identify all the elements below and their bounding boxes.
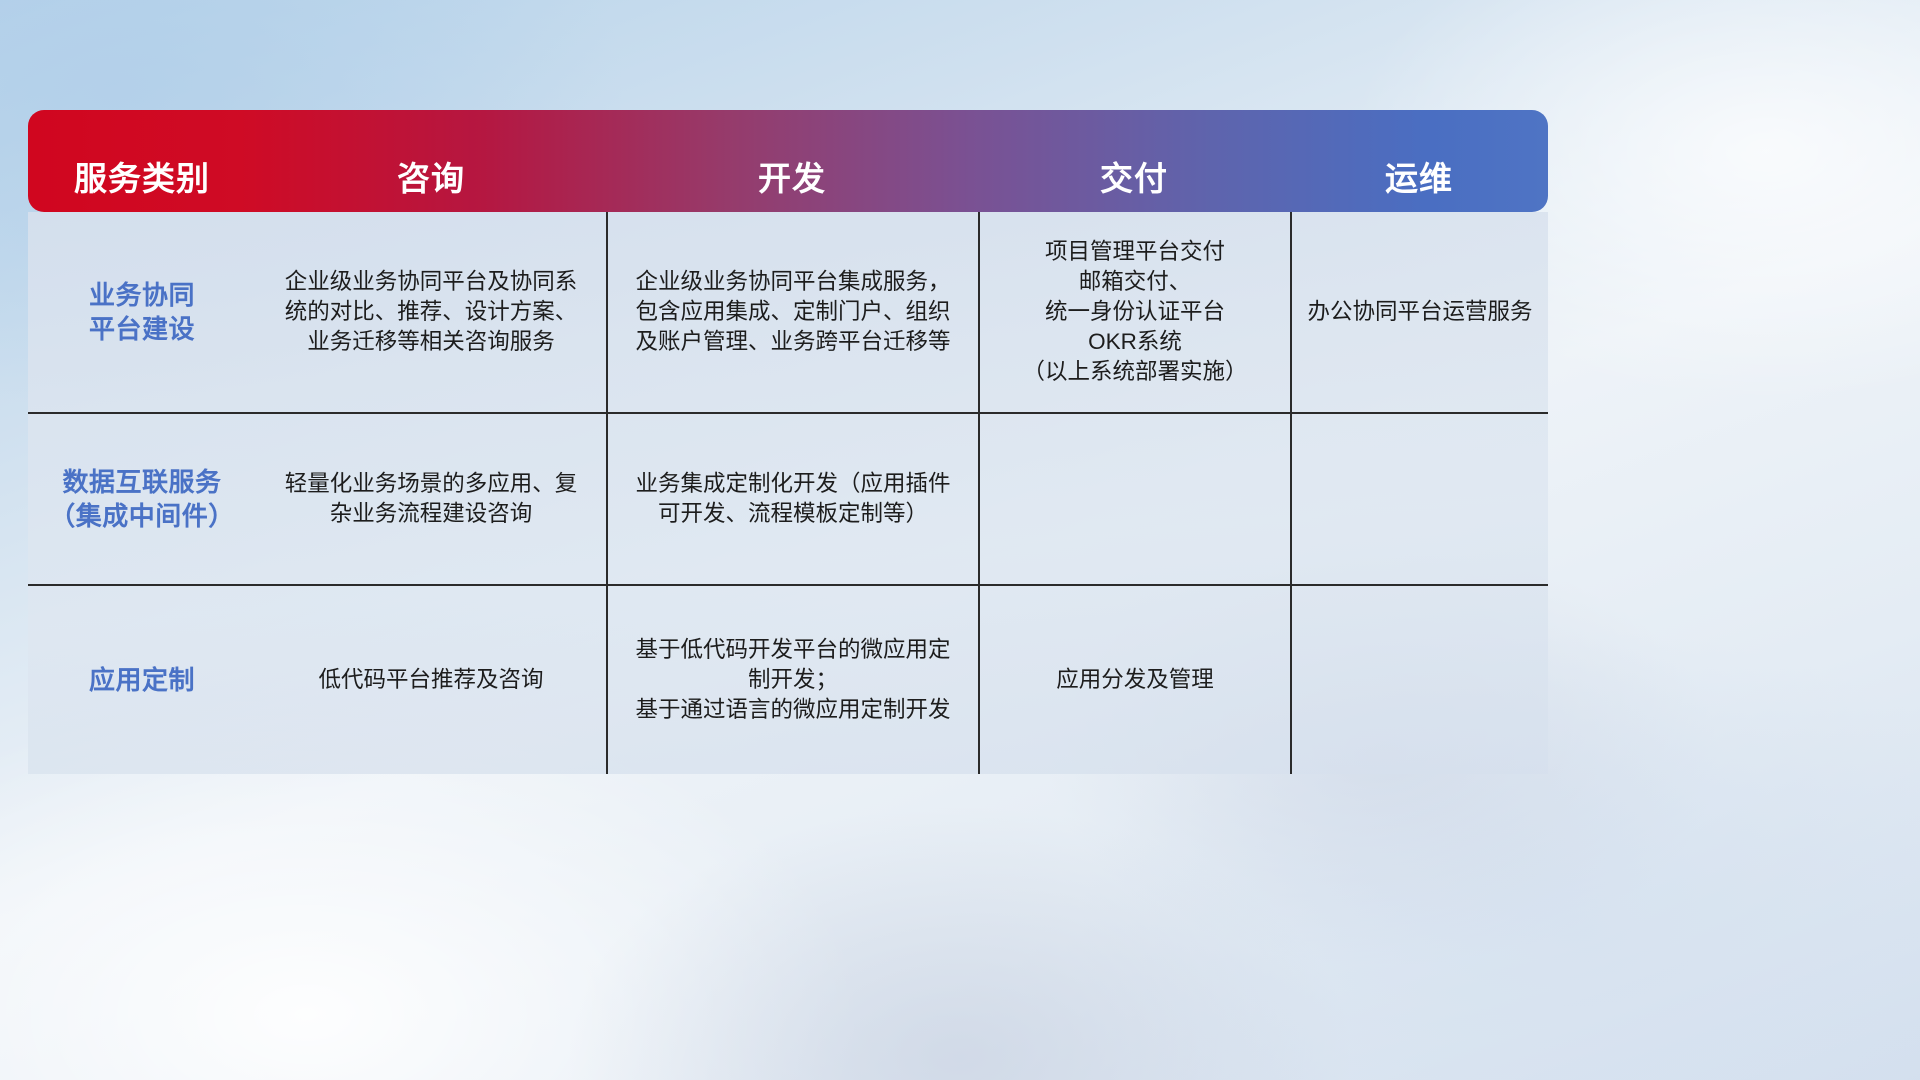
cell-consulting: 企业级业务协同平台及协同系 统的对比、推荐、设计方案、 业务迁移等相关咨询服务 — [256, 212, 606, 412]
cell-delivery: 应用分发及管理 — [978, 586, 1290, 774]
cell-consulting: 轻量化业务场景的多应用、复 杂业务流程建设咨询 — [256, 414, 606, 584]
cell-development: 企业级业务协同平台集成服务， 包含应用集成、定制门户、组织 及账户管理、业务跨平… — [606, 212, 978, 412]
service-matrix-table: 服务类别 咨询 开发 交付 运维 业务协同 平台建设 企业级业务协同平台及协同系… — [28, 110, 1548, 774]
cell-operations: 办公协同平台运营服务 — [1290, 212, 1548, 412]
row-category-label: 业务协同 平台建设 — [28, 212, 256, 412]
column-header-development: 开发 — [606, 110, 978, 212]
column-header-operations: 运维 — [1290, 110, 1548, 212]
column-header-delivery: 交付 — [978, 110, 1290, 212]
row-category-label: 应用定制 — [28, 586, 256, 774]
cell-consulting: 低代码平台推荐及咨询 — [256, 586, 606, 774]
table-row: 数据互联服务 （集成中间件） 轻量化业务场景的多应用、复 杂业务流程建设咨询 业… — [28, 412, 1548, 584]
table-body: 业务协同 平台建设 企业级业务协同平台及协同系 统的对比、推荐、设计方案、 业务… — [28, 212, 1548, 774]
cell-delivery — [978, 414, 1290, 584]
column-header-consulting: 咨询 — [256, 110, 606, 212]
column-header-category: 服务类别 — [28, 110, 256, 212]
row-category-label: 数据互联服务 （集成中间件） — [28, 414, 256, 584]
cell-operations — [1290, 414, 1548, 584]
cell-development: 基于低代码开发平台的微应用定 制开发； 基于通过语言的微应用定制开发 — [606, 586, 978, 774]
table-header-row: 服务类别 咨询 开发 交付 运维 — [28, 110, 1548, 212]
table-row: 业务协同 平台建设 企业级业务协同平台及协同系 统的对比、推荐、设计方案、 业务… — [28, 212, 1548, 412]
table-row: 应用定制 低代码平台推荐及咨询 基于低代码开发平台的微应用定 制开发； 基于通过… — [28, 584, 1548, 774]
cell-operations — [1290, 586, 1548, 774]
cell-delivery: 项目管理平台交付 邮箱交付、 统一身份认证平台 OKR系统 （以上系统部署实施） — [978, 212, 1290, 412]
cell-development: 业务集成定制化开发（应用插件 可开发、流程模板定制等） — [606, 414, 978, 584]
